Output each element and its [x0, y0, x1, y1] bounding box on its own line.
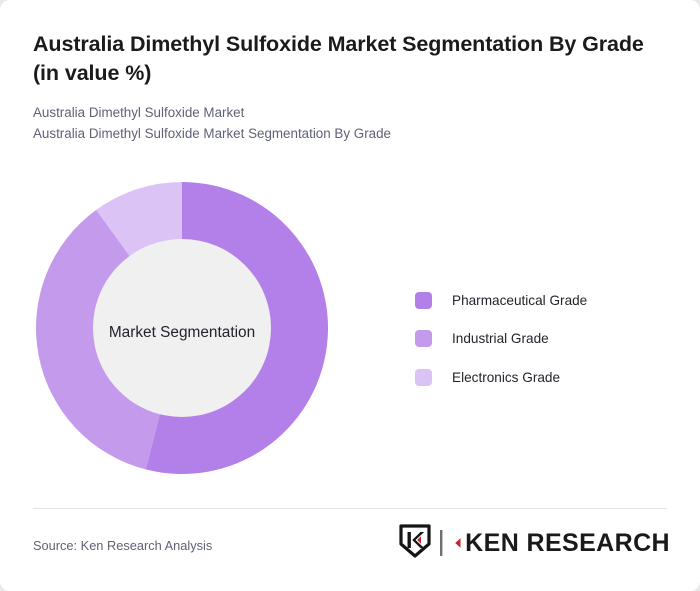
breadcrumb-item-market: Australia Dimethyl Sulfoxide Market: [33, 103, 673, 123]
legend-item[interactable]: Industrial Grade: [415, 320, 587, 359]
source-note: Source: Ken Research Analysis: [33, 538, 212, 553]
page-title: Australia Dimethyl Sulfoxide Market Segm…: [33, 30, 673, 87]
chart-legend: Pharmaceutical GradeIndustrial GradeElec…: [415, 281, 587, 397]
legend-label: Industrial Grade: [452, 331, 549, 346]
legend-swatch-icon: [415, 369, 432, 386]
breadcrumb: Australia Dimethyl Sulfoxide Market Aust…: [33, 103, 673, 144]
legend-swatch-icon: [415, 292, 432, 309]
donut-center-label: Market Segmentation: [109, 324, 255, 342]
logo-text: KEN RESEARCH: [465, 531, 670, 556]
legend-swatch-icon: [415, 330, 432, 347]
legend-item[interactable]: Pharmaceutical Grade: [415, 281, 587, 320]
shield-k-icon: [399, 524, 431, 563]
logo-wordmark: KEN RESEARCH: [440, 530, 670, 556]
legend-label: Pharmaceutical Grade: [452, 293, 587, 308]
footer-divider: [33, 508, 667, 509]
breadcrumb-item-segmentation: Australia Dimethyl Sulfoxide Market Segm…: [33, 124, 673, 144]
legend-label: Electronics Grade: [452, 370, 560, 385]
ken-research-logo: KEN RESEARCH: [399, 526, 670, 560]
logo-divider-icon: [440, 530, 443, 556]
chart-header: Australia Dimethyl Sulfoxide Market Segm…: [33, 30, 673, 144]
donut-slice[interactable]: [96, 182, 182, 328]
logo-k-accent-icon: [450, 533, 464, 553]
chart-card: Australia Dimethyl Sulfoxide Market Segm…: [0, 0, 700, 591]
legend-item[interactable]: Electronics Grade: [415, 358, 587, 397]
